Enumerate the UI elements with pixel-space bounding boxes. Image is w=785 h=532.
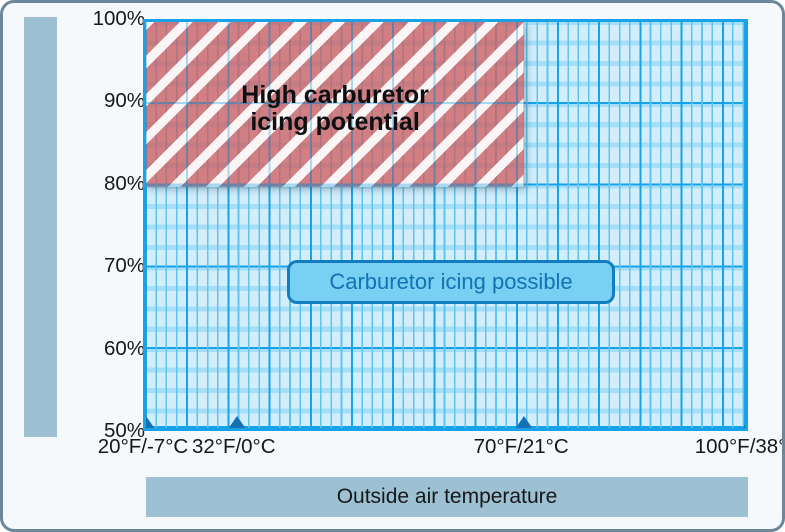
y-tick-label: 60% xyxy=(55,338,145,359)
x-tick-marker xyxy=(143,416,155,429)
x-axis-title-bar: Outside air temperature xyxy=(146,477,748,517)
x-tick-label: 100°F/38°C xyxy=(648,435,785,459)
y-tick-label: 70% xyxy=(55,256,145,277)
x-tick-marker xyxy=(515,416,533,429)
x-tick-label: 32°F/0°C xyxy=(134,435,334,459)
x-tick-marker xyxy=(742,416,748,429)
x-tick-marker xyxy=(228,416,246,429)
region-high-icing-potential: High carburetor icing potential xyxy=(146,22,524,187)
callout-icing-possible: Carburetor icing possible xyxy=(287,260,615,304)
y-axis-title-bar xyxy=(24,17,57,437)
high-risk-line-1: High carburetor xyxy=(241,82,429,109)
y-tick-label: 90% xyxy=(55,91,145,112)
y-tick-label: 80% xyxy=(55,174,145,195)
x-tick-label: 70°F/21°C xyxy=(421,435,621,459)
y-tick-label: 100% xyxy=(55,9,145,30)
high-risk-line-2: icing potential xyxy=(250,109,419,136)
plot-area: High carburetor icing potential Carburet… xyxy=(143,19,748,431)
y-axis-title: Relative humidity xyxy=(24,0,57,50)
region-high-icing-potential-label: High carburetor icing potential xyxy=(146,22,524,187)
carburetor-icing-chart: Relative humidity 100%90%80%70%60%50% Hi… xyxy=(0,0,785,532)
